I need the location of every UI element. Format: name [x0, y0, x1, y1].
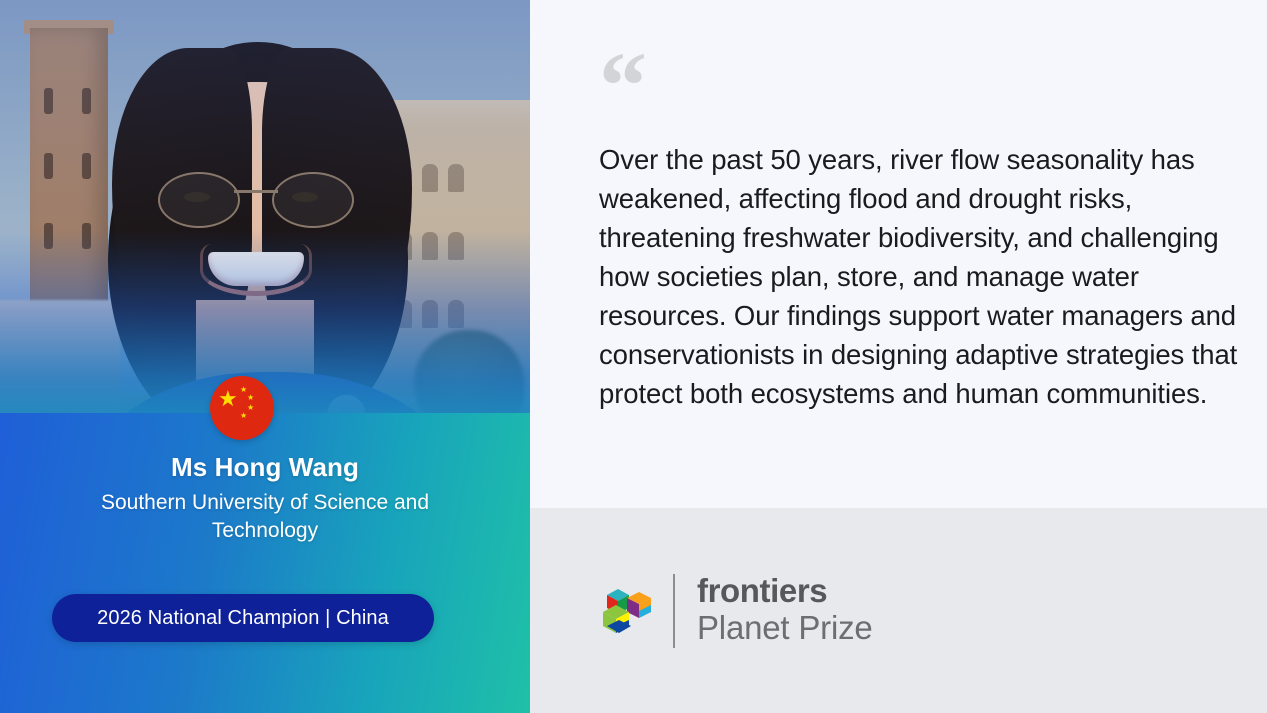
logo-brand-name: frontiers — [697, 573, 873, 609]
champion-affiliation: Southern University of Science and Techn… — [65, 489, 465, 546]
award-badge: 2026 National Champion | China — [52, 594, 434, 642]
frontiers-cubes-icon — [599, 581, 655, 641]
champion-profile-panel: ★ ★ ★ ★ ★ Ms Hong Wang Southern Universi… — [0, 0, 530, 713]
champion-name: Ms Hong Wang — [0, 452, 530, 483]
logo-program-name: Planet Prize — [697, 609, 873, 648]
brand-footer: frontiers Planet Prize — [530, 508, 1267, 713]
champion-quote-card: ★ ★ ★ ★ ★ Ms Hong Wang Southern Universi… — [0, 0, 1267, 713]
china-flag-icon: ★ ★ ★ ★ ★ — [210, 376, 274, 440]
frontiers-planet-prize-logo[interactable]: frontiers Planet Prize — [599, 573, 873, 648]
quotation-mark-icon: “ — [599, 38, 647, 134]
logo-divider — [673, 574, 675, 648]
logo-wordmark: frontiers Planet Prize — [697, 573, 873, 648]
quote-text: Over the past 50 years, river flow seaso… — [599, 140, 1247, 413]
champion-identity: Ms Hong Wang Southern University of Scie… — [0, 452, 530, 546]
quote-area: “ Over the past 50 years, river flow sea… — [530, 0, 1267, 508]
quote-panel: “ Over the past 50 years, river flow sea… — [530, 0, 1267, 713]
